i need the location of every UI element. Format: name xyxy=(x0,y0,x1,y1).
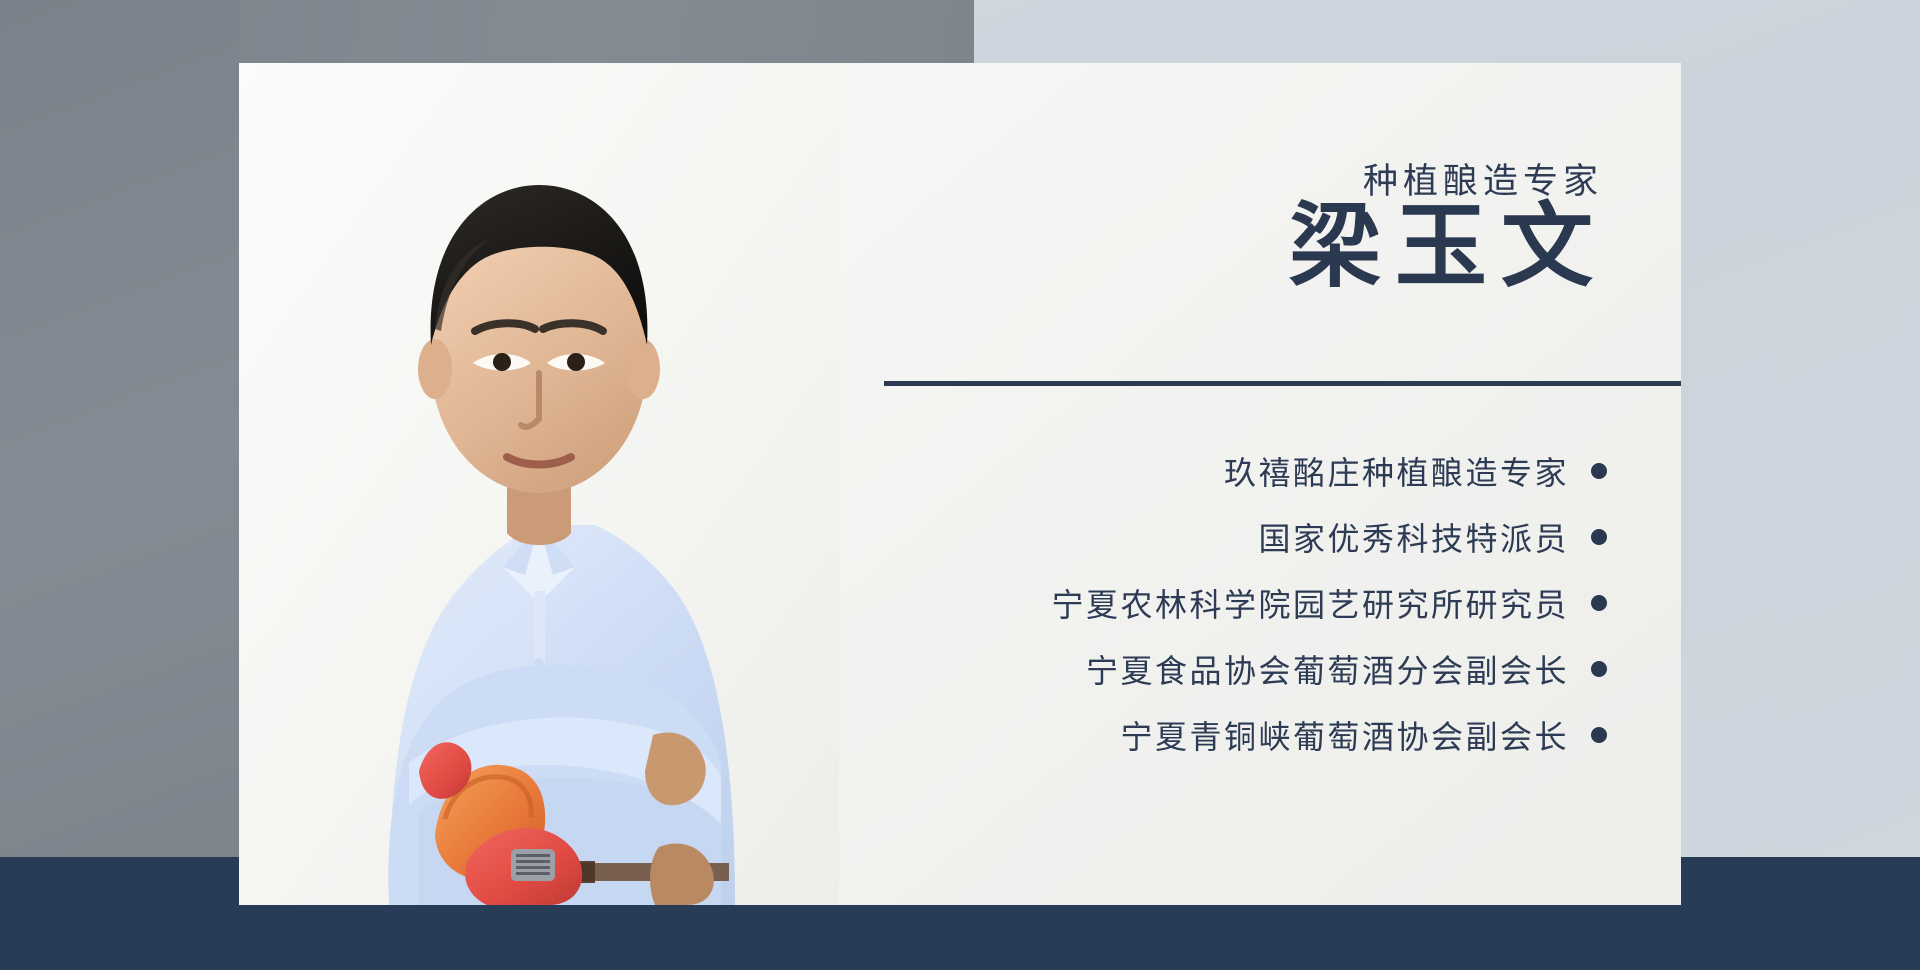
list-item: 宁夏食品协会葡萄酒分会副会长 xyxy=(847,642,1607,696)
background-navy-lower-strip xyxy=(239,903,1920,970)
portrait-photo xyxy=(239,63,839,905)
list-item: 国家优秀科技特派员 xyxy=(847,510,1607,564)
background-navy-right-block xyxy=(1681,857,1920,970)
profile-card: 种植酿造专家 梁玉文 玖禧酩庄种植酿造专家 国家优秀科技特派员 宁夏农林科学院园… xyxy=(239,63,1681,905)
portrait-illustration xyxy=(239,63,839,905)
list-item: 宁夏农林科学院园艺研究所研究员 xyxy=(847,576,1607,630)
credential-text: 国家优秀科技特派员 xyxy=(1256,514,1569,560)
credential-text: 宁夏农林科学院园艺研究所研究员 xyxy=(1049,580,1569,626)
list-item: 玖禧酩庄种植酿造专家 xyxy=(847,444,1607,498)
credential-text: 玖禧酩庄种植酿造专家 xyxy=(1221,448,1569,494)
bullet-dot-icon xyxy=(1591,529,1607,545)
list-item: 宁夏青铜峡葡萄酒协会副会长 xyxy=(847,708,1607,762)
credential-text: 宁夏青铜峡葡萄酒协会副会长 xyxy=(1118,712,1569,758)
bullet-dot-icon xyxy=(1591,595,1607,611)
background-gray-left-band xyxy=(0,0,239,858)
person-name: 梁玉文 xyxy=(1275,198,1607,297)
bullet-dot-icon xyxy=(1591,727,1607,743)
divider-line xyxy=(884,381,1681,386)
profile-content: 种植酿造专家 梁玉文 玖禧酩庄种植酿造专家 国家优秀科技特派员 宁夏农林科学院园… xyxy=(839,63,1681,905)
bullet-dot-icon xyxy=(1591,661,1607,677)
credentials-list: 玖禧酩庄种植酿造专家 国家优秀科技特派员 宁夏农林科学院园艺研究所研究员 宁夏食… xyxy=(847,444,1607,774)
poster-canvas: 种植酿造专家 梁玉文 玖禧酩庄种植酿造专家 国家优秀科技特派员 宁夏农林科学院园… xyxy=(0,0,1920,970)
bullet-dot-icon xyxy=(1591,463,1607,479)
credential-text: 宁夏食品协会葡萄酒分会副会长 xyxy=(1083,646,1569,692)
